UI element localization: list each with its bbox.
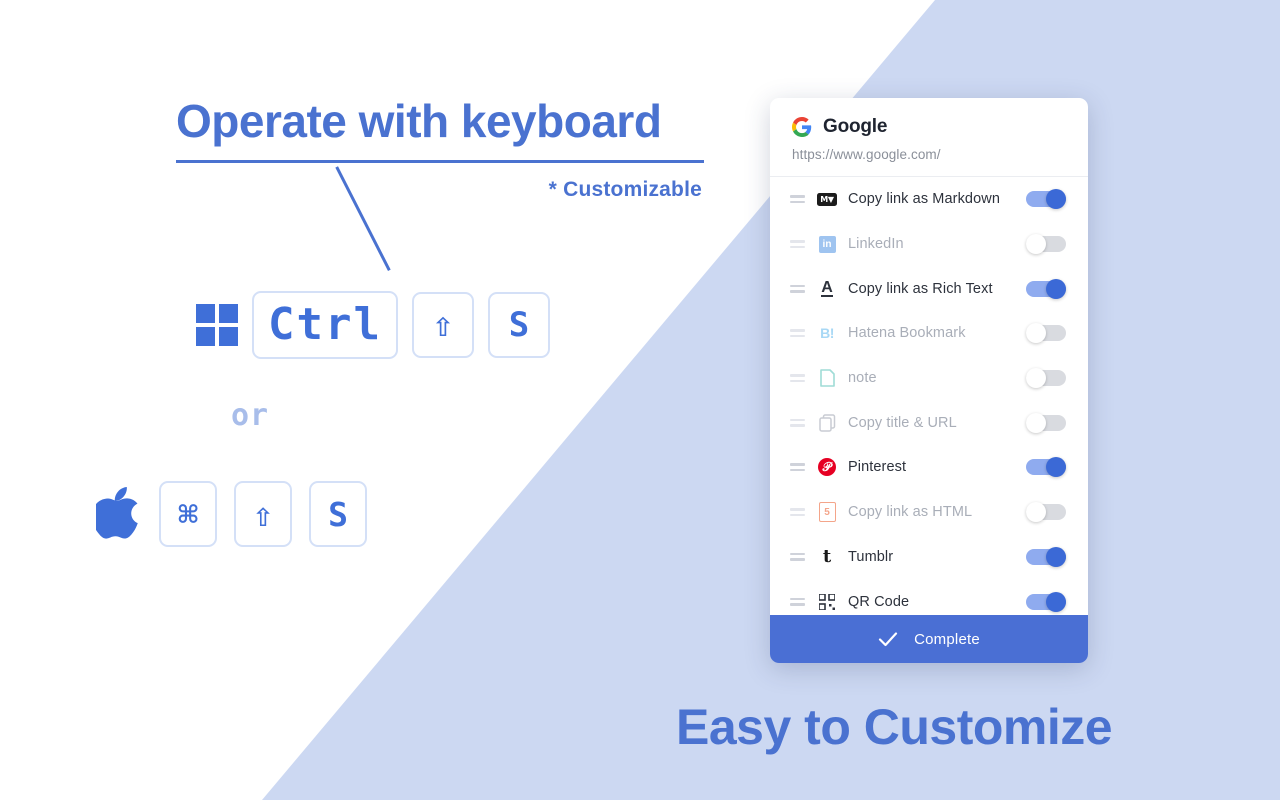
list-item-label: Tumblr	[848, 549, 1026, 565]
list-item[interactable]: in LinkedIn	[770, 222, 1088, 267]
drag-handle-icon[interactable]	[790, 463, 805, 471]
key-shift: ⇧	[412, 292, 474, 358]
bottom-headline: Easy to Customize	[676, 698, 1112, 756]
drag-handle-icon[interactable]	[790, 419, 805, 427]
apple-logo-icon	[96, 487, 142, 541]
list-item[interactable]: M▼ Copy link as Markdown	[770, 177, 1088, 222]
qr-code-icon	[817, 592, 837, 612]
drag-handle-icon[interactable]	[790, 240, 805, 248]
list-item[interactable]: 𝒫 Pinterest	[770, 445, 1088, 490]
toggle-switch[interactable]	[1026, 547, 1066, 567]
extension-popup: Google https://www.google.com/ M▼ Copy l…	[770, 98, 1088, 663]
copy-icon	[817, 413, 837, 433]
list-item[interactable]: note	[770, 356, 1088, 401]
headline: Operate with keyboard	[176, 96, 706, 147]
site-row: Google	[792, 116, 1066, 138]
customizable-note: * Customizable	[380, 178, 702, 202]
drag-handle-icon[interactable]	[790, 285, 805, 293]
check-icon	[878, 631, 898, 647]
list-item-label: Copy title & URL	[848, 415, 1026, 431]
toggle-switch[interactable]	[1026, 413, 1066, 433]
list-item[interactable]: t Tumblr	[770, 535, 1088, 580]
toggle-switch[interactable]	[1026, 592, 1066, 612]
key-s-mac: S	[309, 481, 367, 547]
or-label: or	[231, 398, 269, 433]
tumblr-icon: t	[817, 547, 837, 567]
linkedin-icon: in	[817, 234, 837, 254]
html5-icon: 5	[817, 502, 837, 522]
drag-handle-icon[interactable]	[790, 329, 805, 337]
key-command: ⌘	[159, 481, 217, 547]
windows-shortcut-row: Ctrl ⇧ S	[196, 291, 550, 359]
drag-handle-icon[interactable]	[790, 598, 805, 606]
drag-handle-icon[interactable]	[790, 195, 805, 203]
list-item-label: Hatena Bookmark	[848, 325, 1026, 341]
toggle-switch[interactable]	[1026, 234, 1066, 254]
list-item-label: Copy link as HTML	[848, 504, 1026, 520]
promo-left-column: Operate with keyboard * Customizable Ctr…	[0, 0, 760, 800]
drag-handle-icon[interactable]	[790, 374, 805, 382]
key-shift-mac: ⇧	[234, 481, 292, 547]
list-item[interactable]: Copy title & URL	[770, 400, 1088, 445]
list-item-label: Copy link as Markdown	[848, 191, 1026, 207]
list-item-label: Copy link as Rich Text	[848, 281, 1026, 297]
toggle-switch[interactable]	[1026, 279, 1066, 299]
note-icon	[817, 368, 837, 388]
complete-button-label: Complete	[914, 631, 980, 648]
list-item[interactable]: B! Hatena Bookmark	[770, 311, 1088, 356]
complete-button[interactable]: Complete	[770, 615, 1088, 663]
action-list[interactable]: M▼ Copy link as Markdown in LinkedIn A	[770, 177, 1088, 663]
drag-handle-icon[interactable]	[790, 508, 805, 516]
site-url: https://www.google.com/	[792, 147, 1066, 162]
popup-header: Google https://www.google.com/	[770, 98, 1088, 177]
decorative-slash	[388, 155, 448, 265]
rich-text-icon: A	[817, 279, 837, 299]
list-item-label: note	[848, 370, 1026, 386]
drag-handle-icon[interactable]	[790, 553, 805, 561]
toggle-switch[interactable]	[1026, 502, 1066, 522]
google-g-icon	[792, 117, 812, 137]
list-item[interactable]: A Copy link as Rich Text	[770, 266, 1088, 311]
toggle-switch[interactable]	[1026, 457, 1066, 477]
markdown-icon: M▼	[817, 189, 837, 209]
site-title: Google	[823, 116, 887, 138]
toggle-switch[interactable]	[1026, 189, 1066, 209]
mac-shortcut-row: ⌘ ⇧ S	[96, 481, 367, 547]
list-item-label: QR Code	[848, 594, 1026, 610]
hatena-icon: B!	[817, 323, 837, 343]
list-item[interactable]: 5 Copy link as HTML	[770, 490, 1088, 535]
key-ctrl: Ctrl	[252, 291, 398, 359]
promo-banner: Operate with keyboard * Customizable Ctr…	[0, 0, 1280, 800]
list-item-label: LinkedIn	[848, 236, 1026, 252]
windows-logo-icon	[196, 304, 238, 346]
toggle-switch[interactable]	[1026, 323, 1066, 343]
pinterest-icon: 𝒫	[817, 457, 837, 477]
list-item-label: Pinterest	[848, 459, 1026, 475]
toggle-switch[interactable]	[1026, 368, 1066, 388]
key-s: S	[488, 292, 550, 358]
